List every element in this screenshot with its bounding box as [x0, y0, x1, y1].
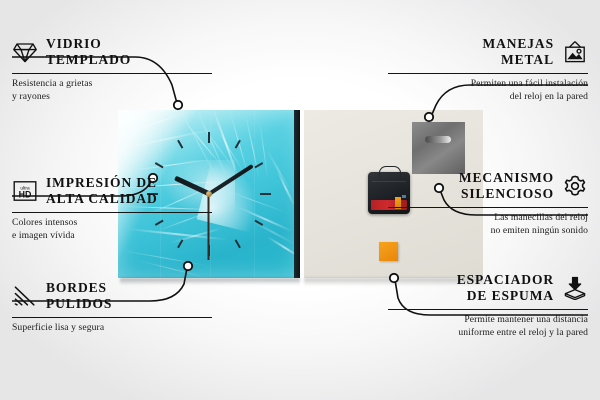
- feature-desc-line1: Las manecillas del reloj: [388, 212, 588, 224]
- feature-title-line2: PULIDOS: [46, 296, 112, 312]
- feature-desc-line1: Permiten una fácil instalación: [388, 78, 588, 90]
- glass-edge: [294, 110, 300, 278]
- feature-divider: [388, 207, 588, 209]
- feature-desc-line1: Colores intensos: [12, 217, 212, 229]
- infographic-canvas: VIDRIO TEMPLADO Resistencia a grietas y …: [0, 0, 600, 400]
- feature-title: MECANISMO SILENCIOSO: [459, 170, 554, 202]
- feature-impresion-alta-calidad: ultra HD IMPRESIÓN DE ALTA CALIDAD Color…: [12, 175, 212, 242]
- feature-header: ESPACIADOR DE ESPUMA: [388, 272, 588, 304]
- feature-manejas-metal: MANEJAS METAL Permiten una fácil instala…: [388, 36, 588, 103]
- feature-description: Permiten una fácil instalación del reloj…: [388, 78, 588, 103]
- feature-desc-line2: y rayones: [12, 91, 212, 103]
- feature-header: BORDES PULIDOS: [12, 280, 212, 312]
- feature-title-line1: ESPACIADOR: [457, 272, 554, 288]
- feature-title-line2: SILENCIOSO: [459, 186, 554, 202]
- feature-divider: [388, 309, 588, 311]
- feature-title: BORDES PULIDOS: [46, 280, 112, 312]
- feature-desc-line2: uniforme entre el reloj y la pared: [388, 327, 588, 339]
- feature-title: MANEJAS METAL: [482, 36, 554, 68]
- feature-divider: [12, 212, 212, 214]
- feature-header: ultra HD IMPRESIÓN DE ALTA CALIDAD: [12, 175, 212, 207]
- feature-title: ESPACIADOR DE ESPUMA: [457, 272, 554, 304]
- feature-bordes-pulidos: BORDES PULIDOS Superficie lisa y segura: [12, 280, 212, 335]
- feature-title-line2: METAL: [482, 52, 554, 68]
- feature-header: MECANISMO SILENCIOSO: [388, 170, 588, 202]
- framed-picture-hanging-icon: [562, 40, 588, 64]
- feature-desc-line1: Superficie lisa y segura: [12, 322, 212, 334]
- feature-title-line1: BORDES: [46, 280, 112, 296]
- feature-description: Resistencia a grietas y rayones: [12, 78, 212, 103]
- feature-description: Colores intensos e imagen vívida: [12, 217, 212, 242]
- feature-desc-line2: no emiten ningún sonido: [388, 225, 588, 237]
- feature-desc-line1: Resistencia a grietas: [12, 78, 212, 90]
- feature-desc-line1: Permite mantener una distancia: [388, 314, 588, 326]
- feature-title-line2: ALTA CALIDAD: [46, 191, 158, 207]
- feature-espaciador-espuma: ESPACIADOR DE ESPUMA Permite mantener un…: [388, 272, 588, 339]
- feature-header: MANEJAS METAL: [388, 36, 588, 68]
- diamond-icon: [12, 40, 38, 64]
- feature-mecanismo-silencioso: MECANISMO SILENCIOSO Las manecillas del …: [388, 170, 588, 237]
- gear-icon: [562, 174, 588, 198]
- feature-title-line2: TEMPLADO: [46, 52, 131, 68]
- feature-vidrio-templado: VIDRIO TEMPLADO Resistencia a grietas y …: [12, 36, 212, 103]
- metal-hanger-plate: [412, 122, 465, 174]
- feature-header: VIDRIO TEMPLADO: [12, 36, 212, 68]
- hanger-slot: [425, 136, 451, 143]
- feature-desc-line2: e imagen vívida: [12, 230, 212, 242]
- feature-divider: [388, 73, 588, 75]
- ultra-hd-icon-big-label: HD: [19, 189, 32, 199]
- feature-title-line1: MECANISMO: [459, 170, 554, 186]
- feature-title: IMPRESIÓN DE ALTA CALIDAD: [46, 175, 158, 207]
- feature-desc-line2: del reloj en la pared: [388, 91, 588, 103]
- arrow-down-onto-layer-icon: [562, 276, 588, 300]
- ultra-hd-icon: ultra HD: [12, 179, 38, 203]
- feature-title-line1: MANEJAS: [482, 36, 554, 52]
- diagonal-lines-icon: [12, 284, 38, 308]
- feature-title: VIDRIO TEMPLADO: [46, 36, 131, 68]
- clock-tick: [209, 193, 271, 195]
- foam-spacer: [379, 242, 398, 261]
- feature-divider: [12, 73, 212, 75]
- feature-title-line1: VIDRIO: [46, 36, 131, 52]
- feature-divider: [12, 317, 212, 319]
- feature-description: Permite mantener una distancia uniforme …: [388, 314, 588, 339]
- feature-title-line2: DE ESPUMA: [457, 288, 554, 304]
- feature-title-line1: IMPRESIÓN DE: [46, 175, 158, 191]
- feature-description: Las manecillas del reloj no emiten ningú…: [388, 212, 588, 237]
- feature-description: Superficie lisa y segura: [12, 322, 212, 334]
